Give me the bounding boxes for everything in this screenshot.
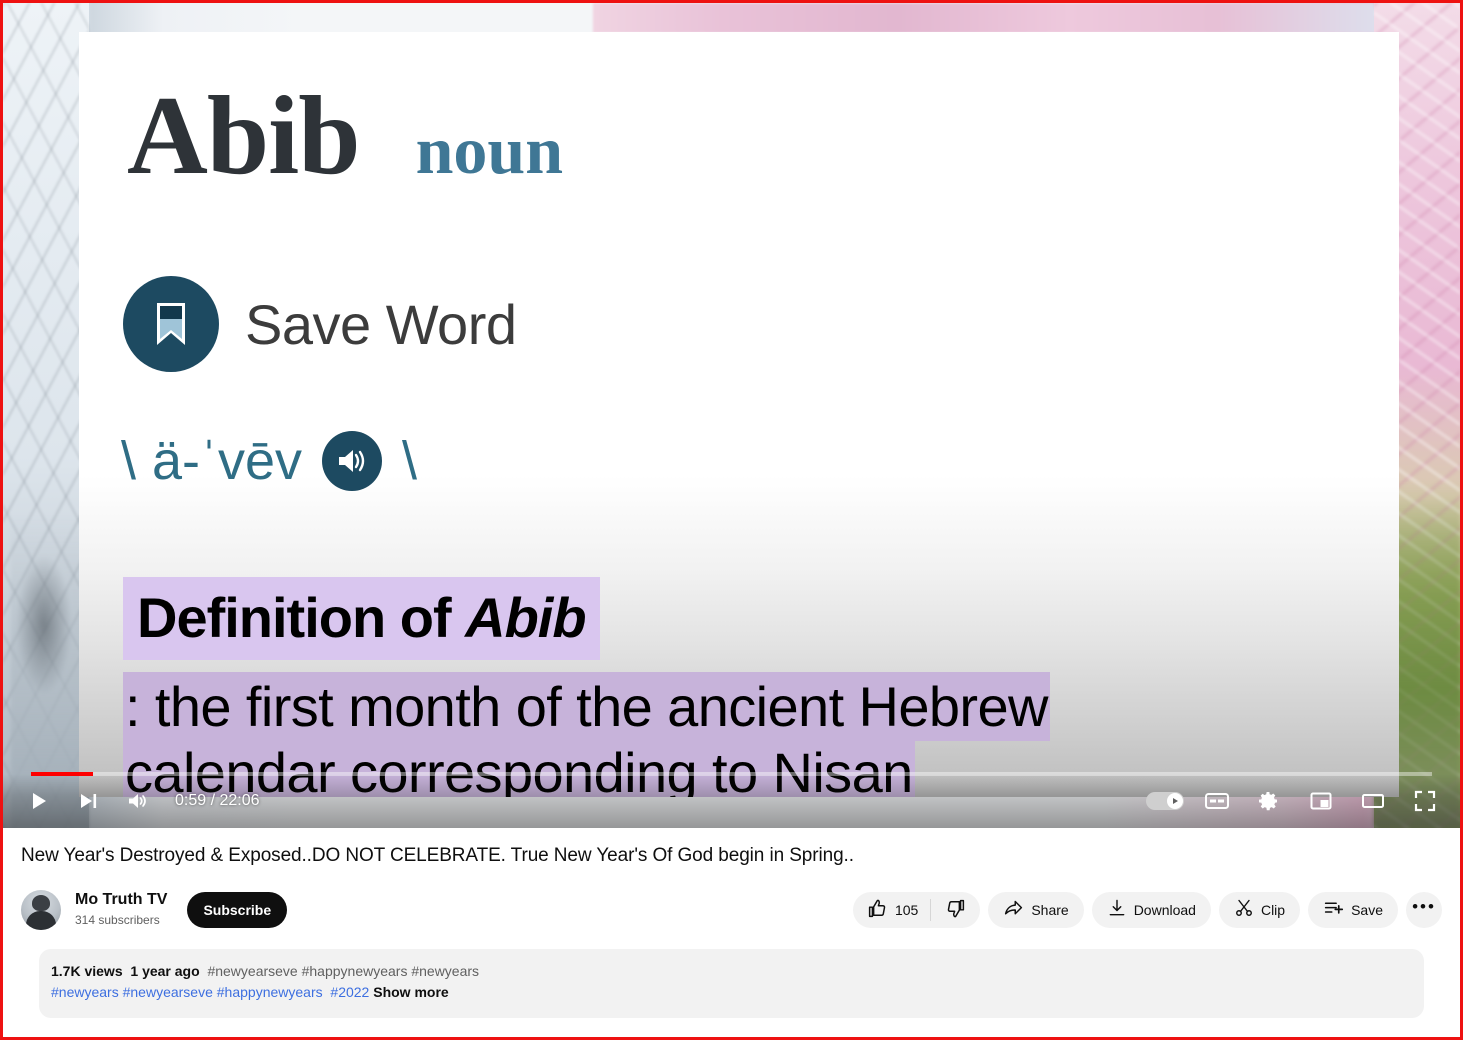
share-button[interactable]: Share	[988, 892, 1083, 928]
owner-row: Mo Truth TV 314 subscribers Subscribe 10…	[21, 887, 1442, 933]
description-tags-line: #newyears #newyearseve #happynewyears #2…	[51, 982, 1412, 1004]
word-heading-row: Abib noun	[127, 80, 563, 192]
hashtag-link-3[interactable]: #2022	[330, 984, 369, 1000]
share-arrow-icon	[1003, 898, 1024, 922]
hashtag-link-2[interactable]: #happynewyears	[217, 984, 323, 1000]
pronunciation-text: ä-ˈvēv	[152, 430, 302, 492]
publish-date: 1 year ago	[130, 963, 199, 979]
fullscreen-button[interactable]	[1402, 778, 1448, 824]
clip-button[interactable]: Clip	[1219, 892, 1300, 928]
bookmark-icon[interactable]	[123, 276, 219, 372]
background-blossom-strip	[593, 3, 1460, 33]
action-buttons: 105	[853, 892, 1442, 928]
part-of-speech: noun	[416, 116, 563, 184]
description-stats-line: 1.7K views 1 year ago #newyearseve #happ…	[51, 961, 1412, 983]
definition-title-word: Abib	[465, 586, 585, 649]
view-count: 1.7K views	[51, 963, 123, 979]
autoplay-toggle-track	[1146, 792, 1184, 810]
subscribe-button[interactable]: Subscribe	[187, 892, 287, 928]
dictionary-card: Abib noun Save Word \ ä-ˈvēv	[79, 32, 1399, 797]
pronunciation-close-slash: \	[402, 430, 417, 492]
save-to-playlist-button[interactable]: Save	[1308, 892, 1398, 928]
description-box[interactable]: 1.7K views 1 year ago #newyearseve #happ…	[39, 949, 1424, 1018]
owner-text: Mo Truth TV 314 subscribers	[75, 890, 167, 929]
thumbs-down-icon	[945, 898, 966, 922]
save-word-row[interactable]: Save Word	[123, 276, 516, 372]
subtitles-cc-button[interactable]	[1194, 778, 1240, 824]
background-winter-scene	[3, 3, 89, 828]
definition-title-prefix: Definition of	[137, 586, 465, 649]
next-video-button[interactable]	[65, 778, 111, 824]
hashtag-link-0[interactable]: #newyears	[51, 984, 119, 1000]
dislike-button[interactable]	[931, 898, 966, 922]
scissors-icon	[1234, 898, 1254, 921]
settings-gear-button[interactable]	[1246, 778, 1292, 824]
pronunciation-row: \ ä-ˈvēv \	[121, 430, 417, 492]
save-label: Save	[1351, 902, 1383, 918]
more-actions-button[interactable]: •••	[1406, 892, 1442, 928]
clip-label: Clip	[1261, 902, 1285, 918]
pronunciation-open-slash: \	[121, 430, 136, 492]
play-button[interactable]	[15, 778, 61, 824]
ellipsis-icon: •••	[1412, 907, 1436, 912]
autoplay-toggle[interactable]	[1142, 778, 1188, 824]
speaker-audio-icon[interactable]	[322, 431, 382, 491]
subscriber-count: 314 subscribers	[75, 911, 167, 929]
dictionary-word: Abib	[127, 80, 360, 192]
avatar[interactable]	[21, 890, 61, 930]
autoplay-toggle-knob	[1167, 793, 1183, 809]
save-word-label: Save Word	[245, 292, 516, 357]
thumbs-up-icon	[867, 898, 888, 922]
player-controls-right	[1142, 778, 1448, 824]
like-count: 105	[895, 902, 918, 918]
show-more-button[interactable]: Show more	[373, 984, 448, 1000]
theater-mode-button[interactable]	[1350, 778, 1396, 824]
like-button[interactable]: 105	[867, 898, 930, 922]
video-meta-section: New Year's Destroyed & Exposed..DO NOT C…	[3, 828, 1460, 1018]
youtube-watch-page: Abib noun Save Word \ ä-ˈvēv	[0, 0, 1463, 1040]
player-controls-left: 0:59 / 22:06	[15, 778, 266, 824]
volume-button[interactable]	[115, 778, 161, 824]
page-title: New Year's Destroyed & Exposed..DO NOT C…	[21, 844, 1442, 869]
definition-title: Definition of Abib	[123, 577, 600, 660]
download-button[interactable]: Download	[1092, 892, 1211, 928]
player-control-bar: 0:59 / 22:06	[3, 774, 1460, 828]
video-player[interactable]: Abib noun Save Word \ ä-ˈvēv	[3, 3, 1460, 828]
list-plus-icon	[1323, 898, 1344, 922]
description-inline-tags: #newyearseve #happynewyears #newyears	[207, 963, 479, 979]
time-display: 0:59 / 22:06	[175, 792, 260, 810]
channel-name[interactable]: Mo Truth TV	[75, 890, 167, 911]
hashtag-link-1[interactable]: #newyearseve	[123, 984, 213, 1000]
download-icon	[1107, 898, 1127, 921]
like-dislike-group: 105	[853, 892, 980, 928]
share-label: Share	[1031, 902, 1068, 918]
download-label: Download	[1134, 902, 1196, 918]
miniplayer-button[interactable]	[1298, 778, 1344, 824]
